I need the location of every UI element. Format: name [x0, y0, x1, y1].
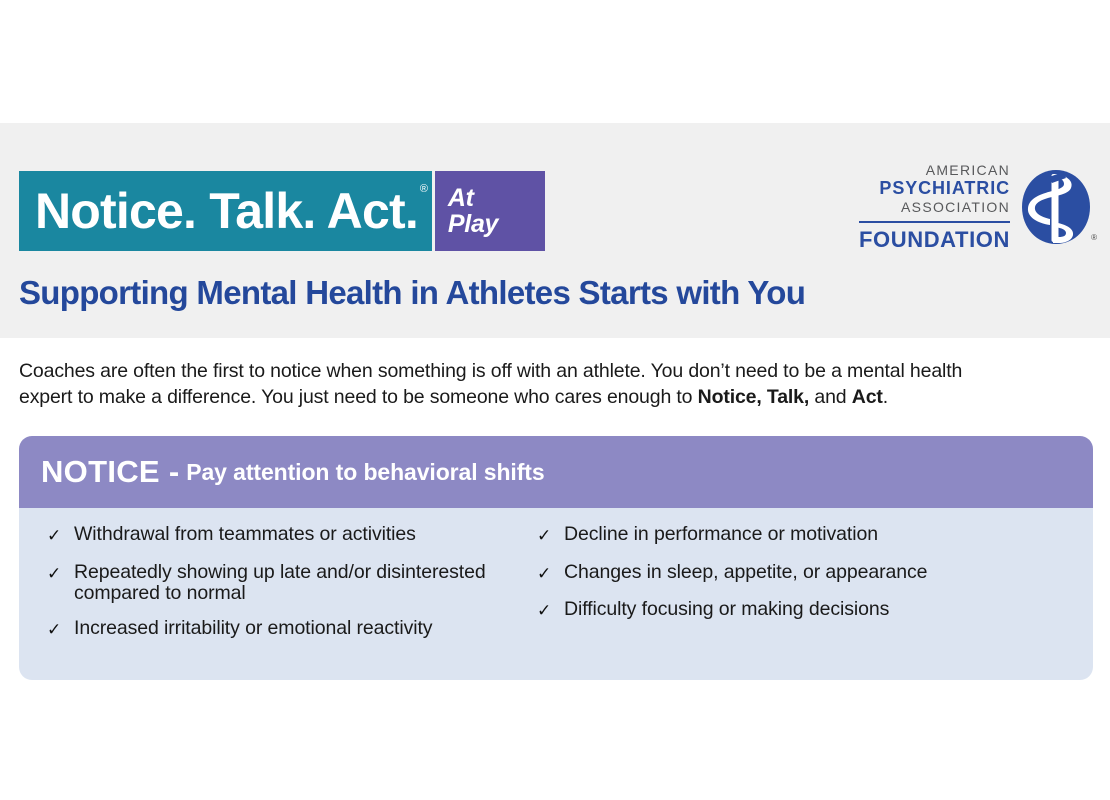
apa-line-american: AMERICAN [859, 163, 1010, 177]
intro-text-part-3: . [883, 386, 888, 408]
intro-bold-notice-talk: Notice, Talk, [698, 386, 809, 408]
at-play-badge: At Play [435, 171, 545, 251]
notice-card: NOTICE - Pay attention to behavioral shi… [19, 436, 1093, 680]
list-item-label: Increased irritability or emotional reac… [74, 618, 432, 640]
check-icon: ✓ [41, 562, 74, 587]
list-item: ✓ Difficulty focusing or making decision… [531, 599, 1071, 624]
list-item: ✓ Changes in sleep, appetite, or appeara… [531, 562, 1071, 587]
list-item: ✓ Repeatedly showing up late and/or disi… [41, 562, 531, 606]
list-item: ✓ Withdrawal from teammates or activitie… [41, 524, 531, 549]
notice-talk-act-logo: Notice. Talk. Act. ® At Play [19, 171, 545, 251]
page-root: Notice. Talk. Act. ® At Play Supporting … [0, 0, 1110, 800]
logo-wordmark-block: Notice. Talk. Act. ® [19, 171, 432, 251]
at-play-line-1: At [448, 185, 545, 212]
apa-line-association: ASSOCIATION [859, 200, 1010, 214]
list-item-label: Difficulty focusing or making decisions [564, 599, 889, 621]
list-item-label: Withdrawal from teammates or activities [74, 524, 416, 546]
notice-card-header-title: NOTICE [41, 454, 160, 490]
at-play-line-2: Play [448, 211, 545, 238]
registered-trademark-icon: ® [420, 184, 428, 195]
list-item-label: Changes in sleep, appetite, or appearanc… [564, 562, 927, 584]
check-icon: ✓ [531, 524, 564, 549]
check-icon: ✓ [531, 562, 564, 587]
intro-bold-act: Act [852, 386, 883, 408]
apa-line-foundation: FOUNDATION [859, 229, 1010, 251]
notice-card-header-subtitle: Pay attention to behavioral shifts [186, 459, 544, 486]
check-icon: ✓ [531, 599, 564, 624]
check-icon: ✓ [41, 524, 74, 549]
apa-logo-text: AMERICAN PSYCHIATRIC ASSOCIATION FOUNDAT… [859, 163, 1010, 251]
header-band: Notice. Talk. Act. ® At Play Supporting … [0, 123, 1110, 338]
page-subtitle: Supporting Mental Health in Athletes Sta… [19, 274, 805, 312]
apa-divider [859, 221, 1010, 223]
apa-foundation-logo: AMERICAN PSYCHIATRIC ASSOCIATION FOUNDAT… [859, 163, 1093, 251]
intro-text-part-2: and [809, 386, 852, 408]
list-item-label: Repeatedly showing up late and/or disint… [74, 562, 531, 606]
notice-list-left-column: ✓ Withdrawal from teammates or activitie… [41, 524, 531, 656]
asclepius-staff-emblem-icon: ® [1019, 168, 1093, 246]
logo-wordmark-text: Notice. Talk. Act. [35, 186, 418, 236]
list-item: ✓ Increased irritability or emotional re… [41, 618, 531, 643]
list-item-label: Decline in performance or motivation [564, 524, 878, 546]
notice-card-body: ✓ Withdrawal from teammates or activitie… [19, 508, 1093, 680]
notice-list-right-column: ✓ Decline in performance or motivation ✓… [531, 524, 1071, 656]
intro-paragraph: Coaches are often the first to notice wh… [19, 359, 999, 411]
notice-card-header: NOTICE - Pay attention to behavioral shi… [19, 436, 1093, 508]
apa-registered-trademark-icon: ® [1091, 234, 1097, 242]
check-icon: ✓ [41, 618, 74, 643]
list-item: ✓ Decline in performance or motivation [531, 524, 1071, 549]
apa-line-psychiatric: PSYCHIATRIC [859, 179, 1010, 197]
notice-card-header-dash: - [169, 454, 179, 490]
